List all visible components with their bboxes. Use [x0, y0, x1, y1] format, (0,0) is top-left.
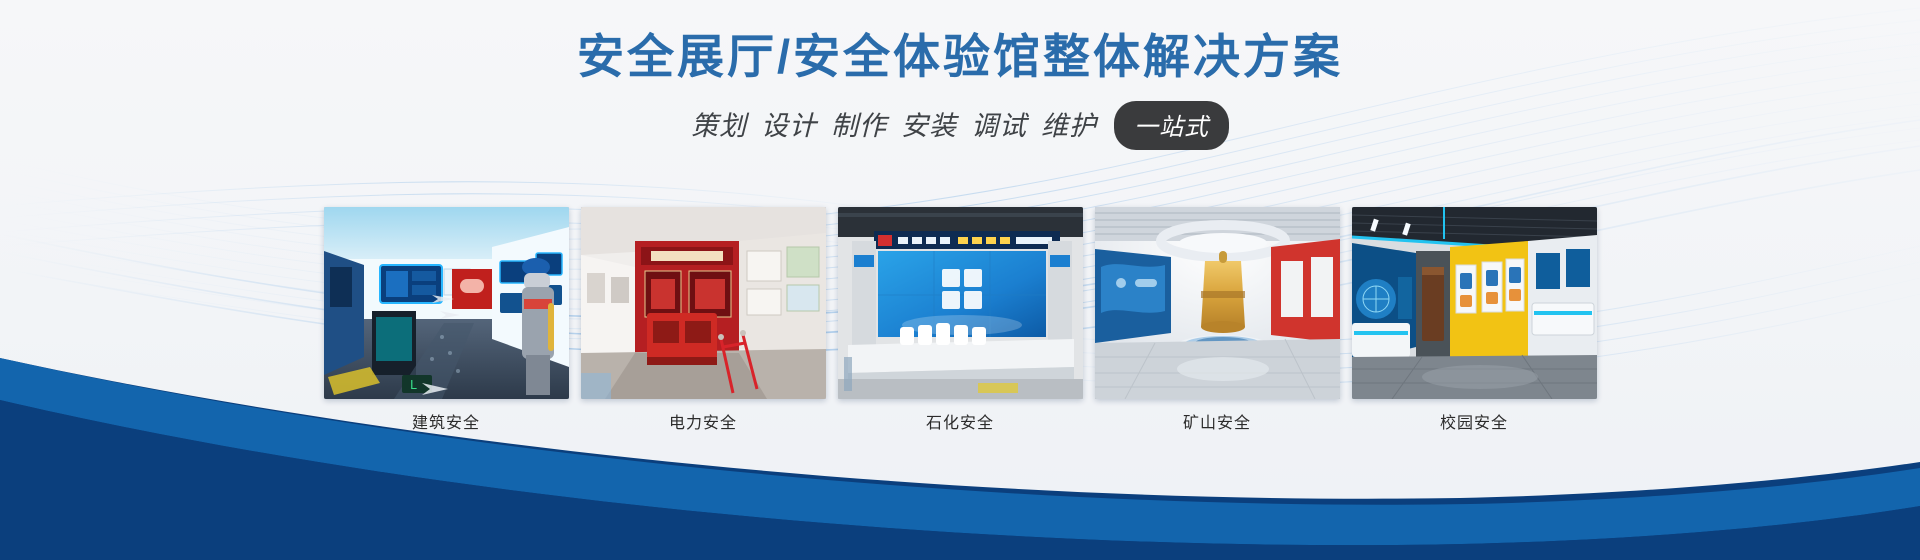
- thumbnail-electric-power-safety[interactable]: [581, 207, 826, 399]
- gallery-item-caption: 电力安全: [669, 413, 737, 435]
- gallery-item-caption: 校园安全: [1440, 413, 1508, 435]
- exhibition-gallery: L 建筑安全: [0, 207, 1920, 435]
- gallery-item-caption: 矿山安全: [1183, 413, 1251, 435]
- thumbnail-campus-safety[interactable]: [1352, 207, 1597, 399]
- thumbnail-mining-safety[interactable]: [1095, 207, 1340, 399]
- promo-banner: 安全展厅/安全体验馆整体解决方案 策划 设计 制作 安装 调试 维护 一站式: [0, 0, 1920, 560]
- service-step-planning: 策划: [691, 106, 747, 146]
- svg-text:L: L: [410, 378, 417, 392]
- service-steps: 策划 设计 制作 安装 调试 维护: [691, 106, 1097, 146]
- service-step-production: 制作: [831, 106, 887, 146]
- service-step-maintenance: 维护: [1041, 106, 1097, 146]
- gallery-item-caption: 建筑安全: [412, 413, 480, 435]
- service-step-debugging: 调试: [971, 106, 1027, 146]
- page-title: 安全展厅/安全体验馆整体解决方案: [0, 26, 1920, 88]
- one-stop-badge: 一站式: [1114, 101, 1229, 150]
- gallery-item[interactable]: 电力安全: [581, 207, 826, 435]
- thumbnail-construction-safety[interactable]: L: [324, 207, 569, 399]
- gallery-item[interactable]: 矿山安全: [1095, 207, 1340, 435]
- thumbnail-petrochemical-safety[interactable]: [838, 207, 1083, 399]
- subtitle-row: 策划 设计 制作 安装 调试 维护 一站式: [0, 101, 1920, 150]
- gallery-item[interactable]: 校园安全: [1352, 207, 1597, 435]
- gallery-item[interactable]: L 建筑安全: [324, 207, 569, 435]
- service-step-installation: 安装: [901, 106, 957, 146]
- gallery-item-caption: 石化安全: [926, 413, 994, 435]
- service-step-design: 设计: [761, 106, 817, 146]
- gallery-item[interactable]: 石化安全: [838, 207, 1083, 435]
